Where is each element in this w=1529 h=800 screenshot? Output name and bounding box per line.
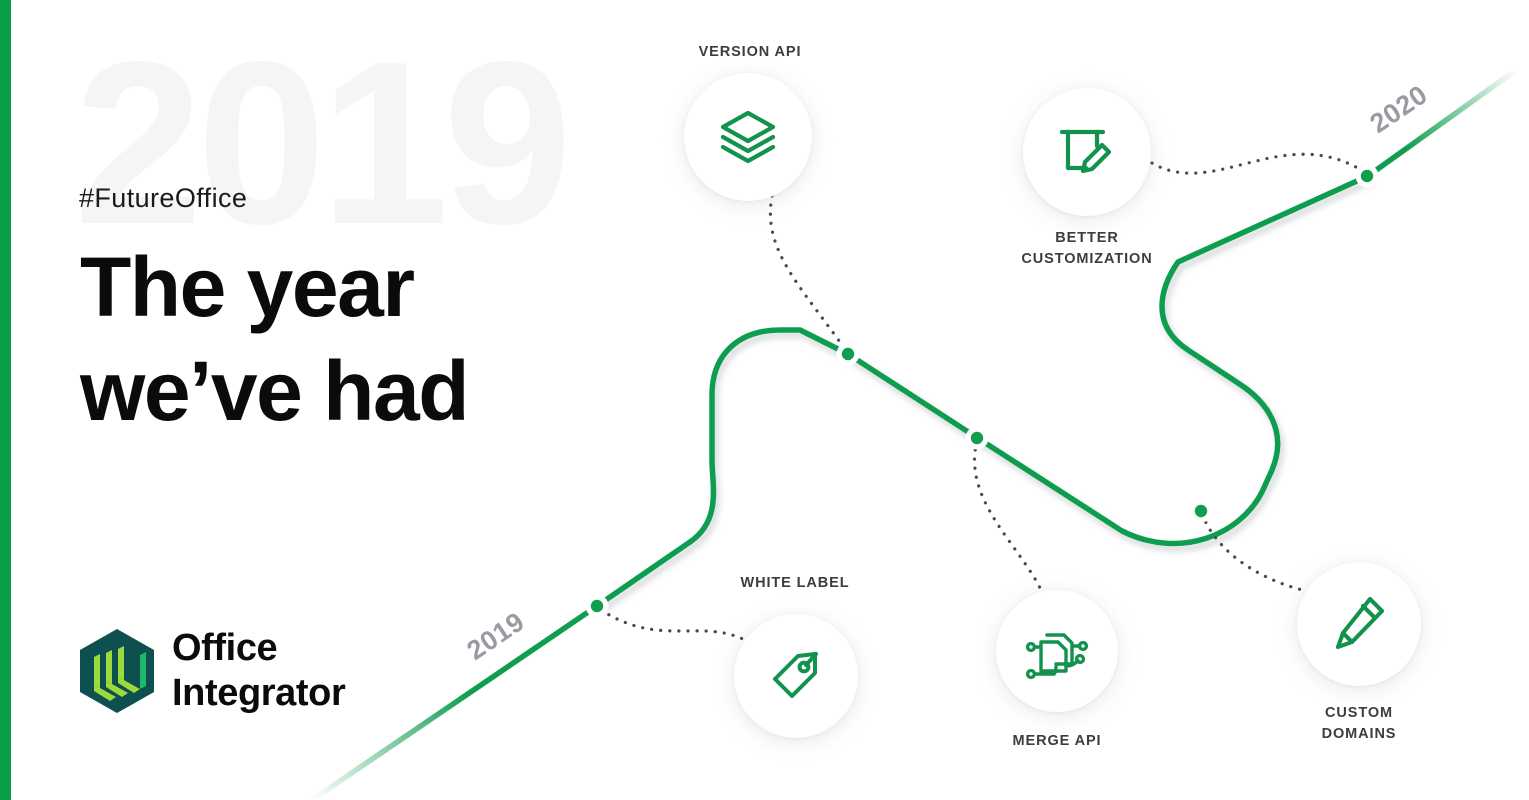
milestone-bubble-better-customization[interactable] [1023, 88, 1151, 216]
watermark-year: 2019 [74, 28, 566, 260]
page-title: The year we’ve had [80, 235, 468, 443]
price-tag-icon [768, 648, 824, 704]
milestone-label-text: CUSTOM DOMAINS [1322, 705, 1397, 742]
year-tag-end: 2020 [1365, 79, 1434, 139]
rail-node-merge-api [966, 427, 989, 450]
left-accent-bar [0, 0, 11, 800]
brand-name-line-2: Integrator [172, 672, 345, 714]
headline-line-2: we’ve had [80, 344, 468, 438]
layers-stack-icon [717, 108, 779, 166]
milestone-label-better-customization: BETTER CUSTOMIZATION [992, 228, 1182, 270]
milestone-label-white-label: WHITE LABEL [700, 573, 890, 594]
connector-version-api [770, 196, 847, 352]
connector-custom-domains [1202, 514, 1313, 592]
page-pencil-icon [1055, 122, 1119, 182]
brand-name-line-1: Office [172, 627, 277, 669]
headline-line-1: The year [80, 240, 414, 334]
year-tag-start: 2019 [462, 606, 531, 666]
milestone-bubble-custom-domains[interactable] [1297, 562, 1421, 686]
rail-node-2019 [586, 595, 609, 618]
rail-node-version-api [837, 343, 860, 366]
merge-documents-circuit-icon [1024, 622, 1090, 680]
infographic-canvas: 2019 #FutureOffice The year we’ve had [0, 0, 1529, 800]
connector-merge-api [975, 441, 1042, 592]
milestone-label-custom-domains: CUSTOM DOMAINS [1264, 703, 1454, 745]
brand-name: Office Integrator [172, 626, 345, 716]
connector-better-customization [1152, 154, 1366, 173]
hexagon-layers-logo-icon [76, 627, 158, 715]
pencil-icon [1332, 595, 1386, 653]
connector-white-label [601, 610, 745, 640]
milestone-bubble-version-api[interactable] [684, 73, 812, 201]
milestone-label-version-api: VERSION API [655, 42, 845, 63]
brand-logo[interactable]: Office Integrator [76, 626, 345, 716]
milestone-label-merge-api: MERGE API [962, 731, 1152, 752]
hashtag: #FutureOffice [79, 183, 247, 214]
milestone-bubble-white-label[interactable] [734, 614, 858, 738]
rail-node-2020 [1356, 165, 1379, 188]
milestone-label-text: BETTER CUSTOMIZATION [1021, 230, 1152, 267]
milestone-bubble-merge-api[interactable] [996, 590, 1118, 712]
rail-node-custom-domains [1190, 500, 1213, 523]
